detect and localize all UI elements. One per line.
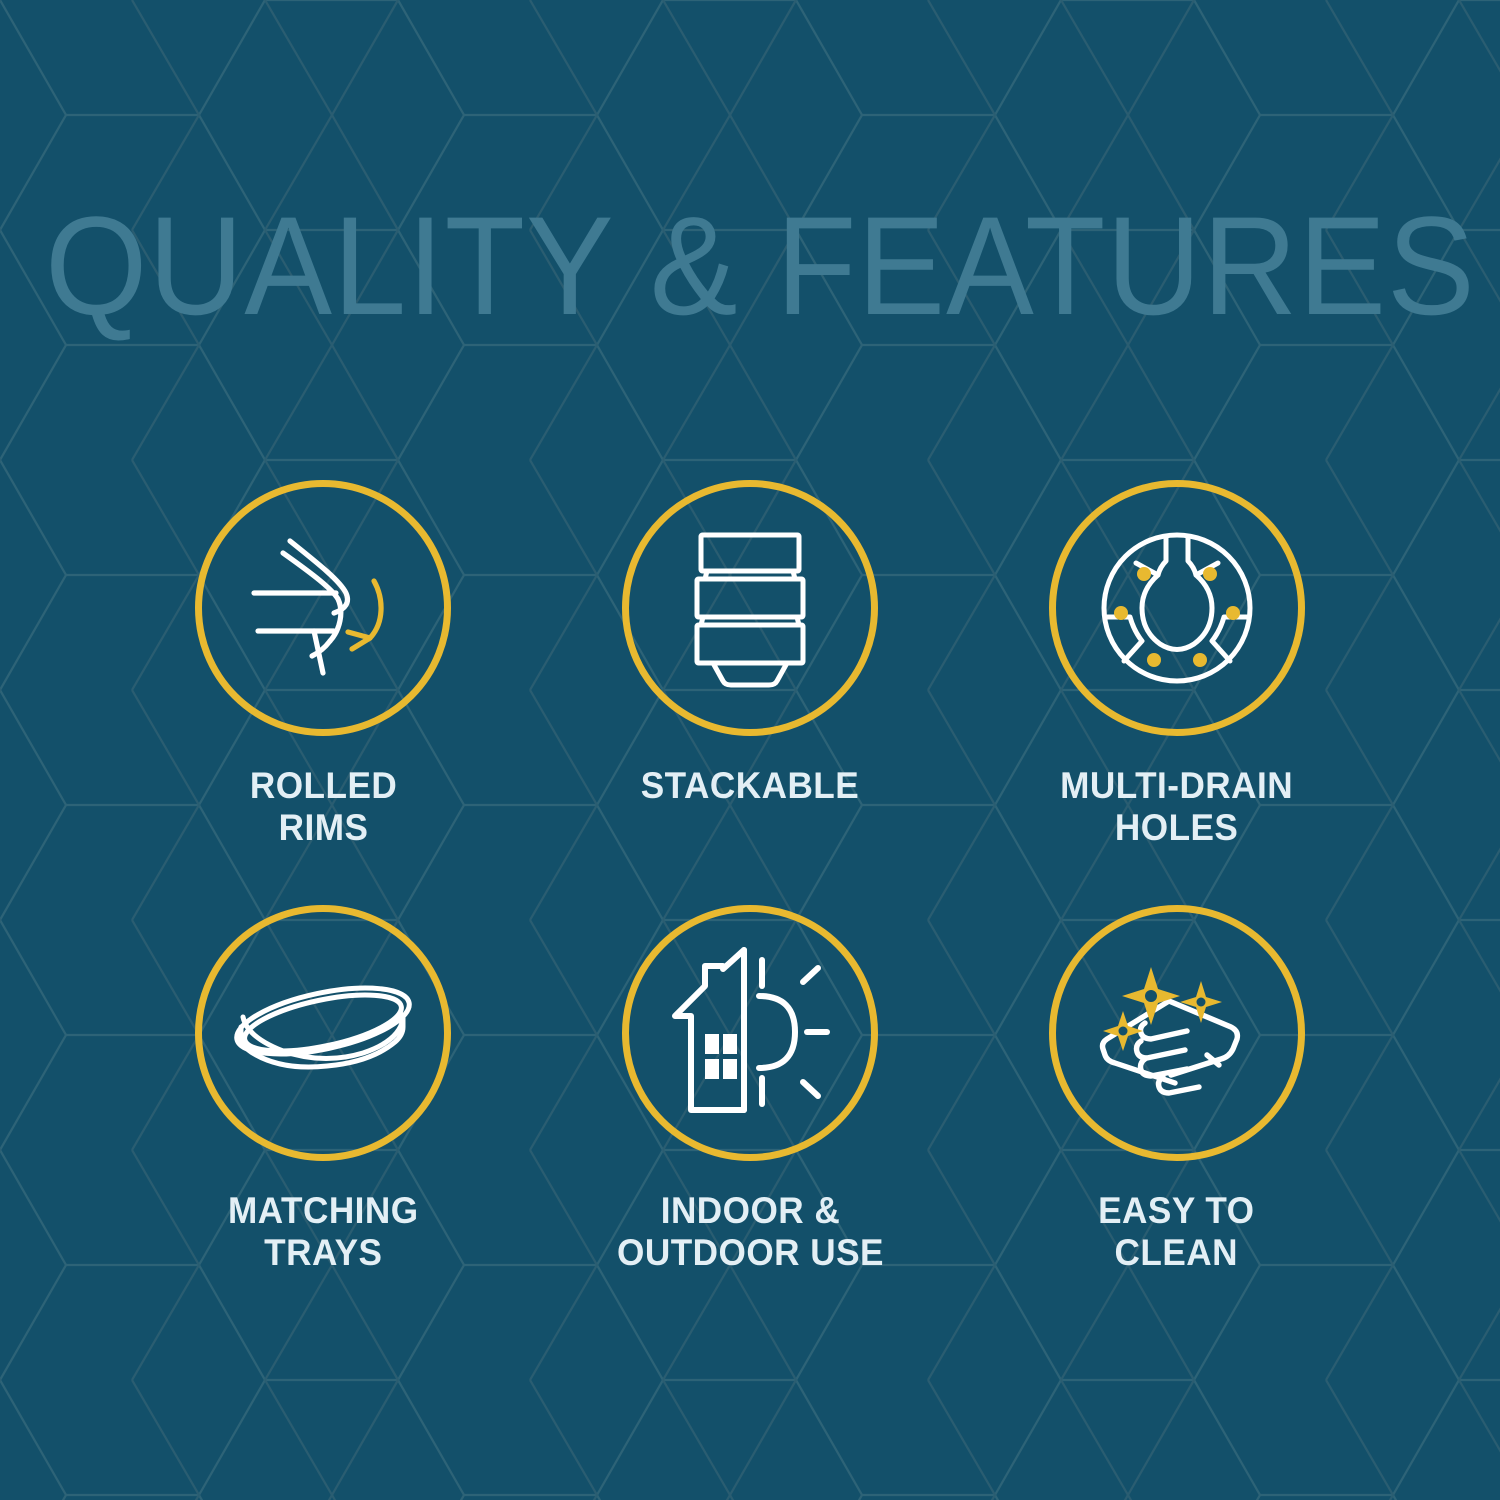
feature-label: STACKABLE (641, 765, 859, 807)
stacked-pots-icon (655, 513, 845, 703)
feature-label: INDOOR & OUTDOOR USE (617, 1190, 884, 1274)
badge-circle-multi-drain-holes (1049, 480, 1305, 736)
feature-rolled-rims[interactable]: ROLLED RIMS (110, 480, 537, 905)
badge-circle-stackable (622, 480, 878, 736)
drain-holes-icon (1082, 513, 1272, 703)
hand-wipe-sparkle-icon (1079, 935, 1275, 1131)
feature-label: EASY TO CLEAN (1098, 1190, 1254, 1274)
badge-circle-indoor-outdoor-use (622, 905, 878, 1161)
feature-infographic: QUALITY & FEATURES (0, 0, 1500, 1500)
house-sun-icon (655, 938, 845, 1128)
rolled-rim-icon (228, 513, 418, 703)
feature-indoor-outdoor-use[interactable]: INDOOR & OUTDOOR USE (537, 905, 964, 1330)
feature-easy-to-clean[interactable]: EASY TO CLEAN (963, 905, 1390, 1330)
badge-circle-matching-trays (195, 905, 451, 1161)
page-title: QUALITY & FEATURES (45, 196, 1455, 336)
badge-circle-rolled-rims (195, 480, 451, 736)
feature-label: MATCHING TRAYS (228, 1190, 419, 1274)
tray-saucer-icon (223, 933, 423, 1133)
badge-circle-easy-to-clean (1049, 905, 1305, 1161)
features-grid: ROLLED RIMS STACKABLE (110, 480, 1390, 1330)
feature-stackable[interactable]: STACKABLE (537, 480, 964, 905)
feature-multi-drain-holes[interactable]: MULTI-DRAIN HOLES (963, 480, 1390, 905)
feature-label: MULTI-DRAIN HOLES (1060, 765, 1293, 849)
feature-label: ROLLED RIMS (250, 765, 397, 849)
feature-matching-trays[interactable]: MATCHING TRAYS (110, 905, 537, 1330)
